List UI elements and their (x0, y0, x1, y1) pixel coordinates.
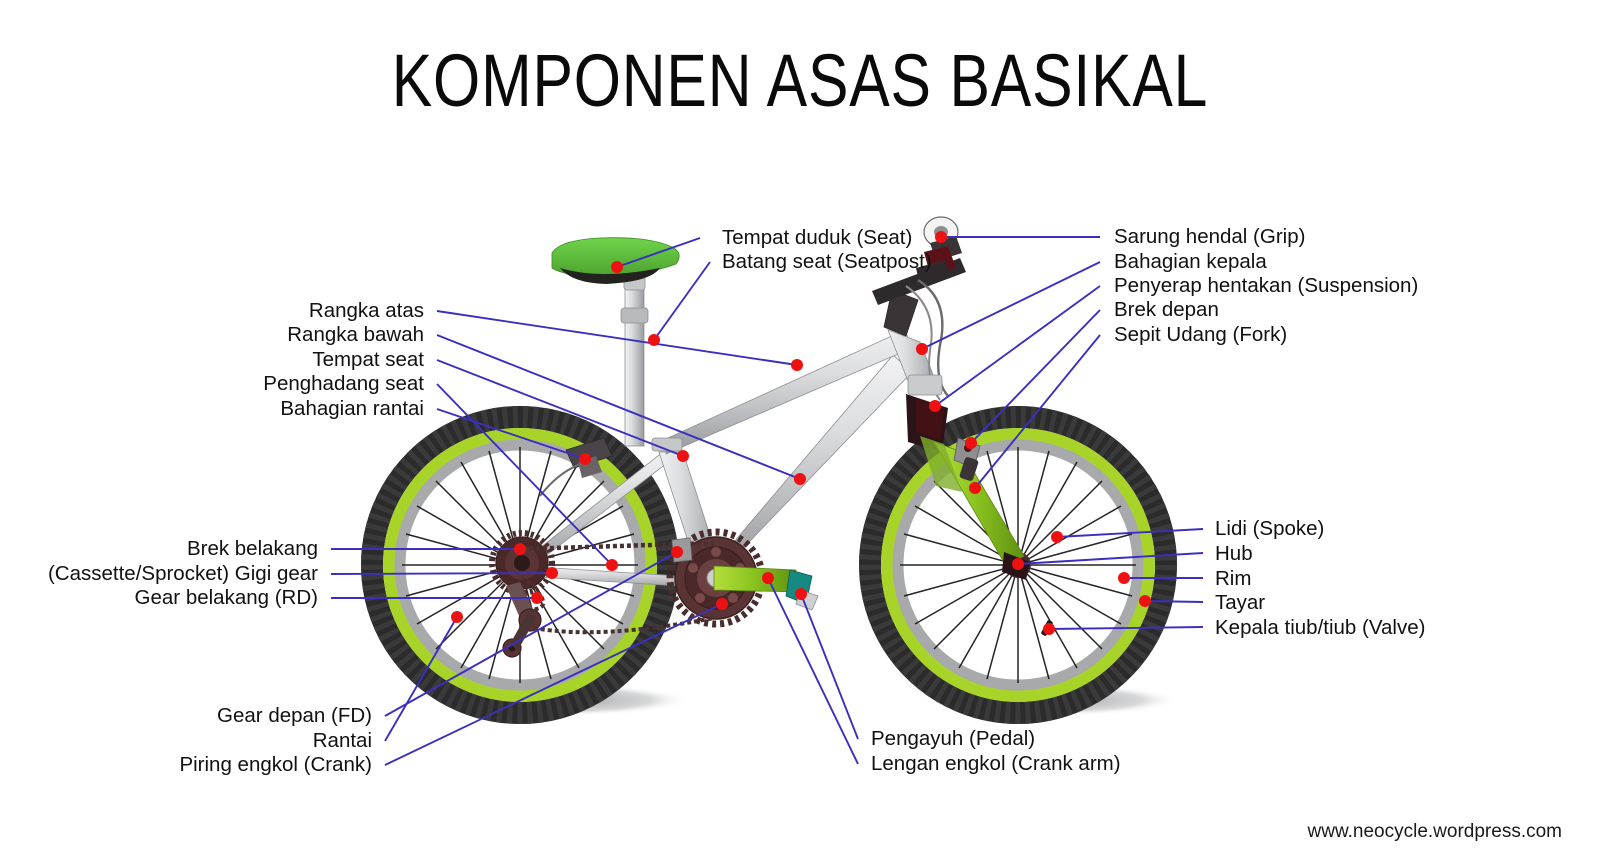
callout-label-rim: Rim (1215, 566, 1251, 591)
callout-label-rantai: Rantai (313, 728, 372, 753)
callout-label-fork: Sepit Udang (Fork) (1114, 322, 1287, 347)
callout-label-valve: Kepala tiub/tiub (Valve) (1215, 615, 1425, 640)
callout-label-rangka-atas: Rangka atas (309, 298, 424, 323)
saddle (552, 238, 679, 276)
callout-label-seatpost: Batang seat (Seatpost) (722, 249, 932, 274)
callout-label-rangka-bawah: Rangka bawah (287, 322, 424, 347)
site-url: www.neocycle.wordpress.com (1308, 821, 1562, 843)
pedal (786, 570, 818, 610)
callout-label-grip: Sarung hendal (Grip) (1114, 224, 1305, 249)
callout-label-penghadang-seat: Penghadang seat (263, 371, 424, 396)
callout-label-tempat-seat: Tempat seat (312, 347, 424, 372)
callout-label-rd: Gear belakang (RD) (135, 585, 318, 610)
callout-label-bahagian-kepala: Bahagian kepala (1114, 249, 1267, 274)
callout-label-hub: Hub (1215, 541, 1253, 566)
callout-label-crank-arm: Lengan engkol (Crank arm) (871, 751, 1121, 776)
callout-label-crank: Piring engkol (Crank) (179, 752, 372, 777)
front-derailleur (672, 538, 692, 562)
callout-label-brek-depan: Brek depan (1114, 297, 1219, 322)
callout-label-fd: Gear depan (FD) (217, 703, 372, 728)
crank-arm (714, 566, 797, 592)
callout-label-seat: Tempat duduk (Seat) (722, 225, 912, 250)
callout-label-brek-belakang: Brek belakang (187, 536, 318, 561)
rear-derailleur (503, 582, 541, 657)
callout-label-pedal: Pengayuh (Pedal) (871, 726, 1035, 751)
callout-label-spoke: Lidi (Spoke) (1215, 516, 1324, 541)
diagram-page: KOMPONEN ASAS BASIKAL (0, 0, 1600, 861)
callout-label-gigi-gear: (Cassette/Sprocket) Gigi gear (48, 561, 318, 586)
callout-label-suspension: Penyerap hentakan (Suspension) (1114, 273, 1418, 298)
bicycle-illustration (0, 0, 1600, 861)
callout-label-bahagian-rantai: Bahagian rantai (280, 396, 424, 421)
callout-label-tayar: Tayar (1215, 590, 1265, 615)
valve-stem (1041, 620, 1054, 637)
